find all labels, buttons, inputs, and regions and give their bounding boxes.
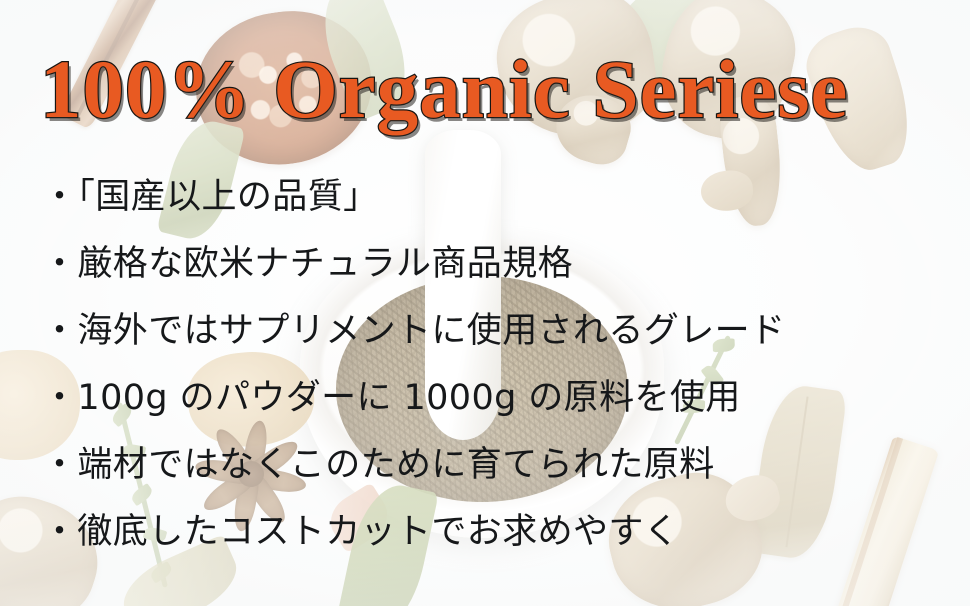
list-item: ・海外ではサプリメントに使用されるグレード — [42, 298, 942, 365]
list-item: ・徹底したコストカットでお求めやすく — [42, 499, 942, 566]
list-item: ・端材ではなくこのために育てられた原料 — [42, 432, 942, 499]
list-item: ・厳格な欧米ナチュラル商品規格 — [42, 231, 942, 298]
list-item: ・100g のパウダーに 1000g の原料を使用 — [42, 365, 942, 432]
organic-series-banner: 100% Organic Seriese ・「国産以上の品質」 ・厳格な欧米ナチ… — [0, 0, 970, 606]
banner-content: 100% Organic Seriese ・「国産以上の品質」 ・厳格な欧米ナチ… — [0, 0, 970, 606]
banner-headline: 100% Organic Seriese — [40, 48, 940, 131]
feature-bullet-list: ・「国産以上の品質」 ・厳格な欧米ナチュラル商品規格 ・海外ではサプリメントに使… — [42, 164, 942, 566]
list-item: ・「国産以上の品質」 — [42, 164, 942, 231]
